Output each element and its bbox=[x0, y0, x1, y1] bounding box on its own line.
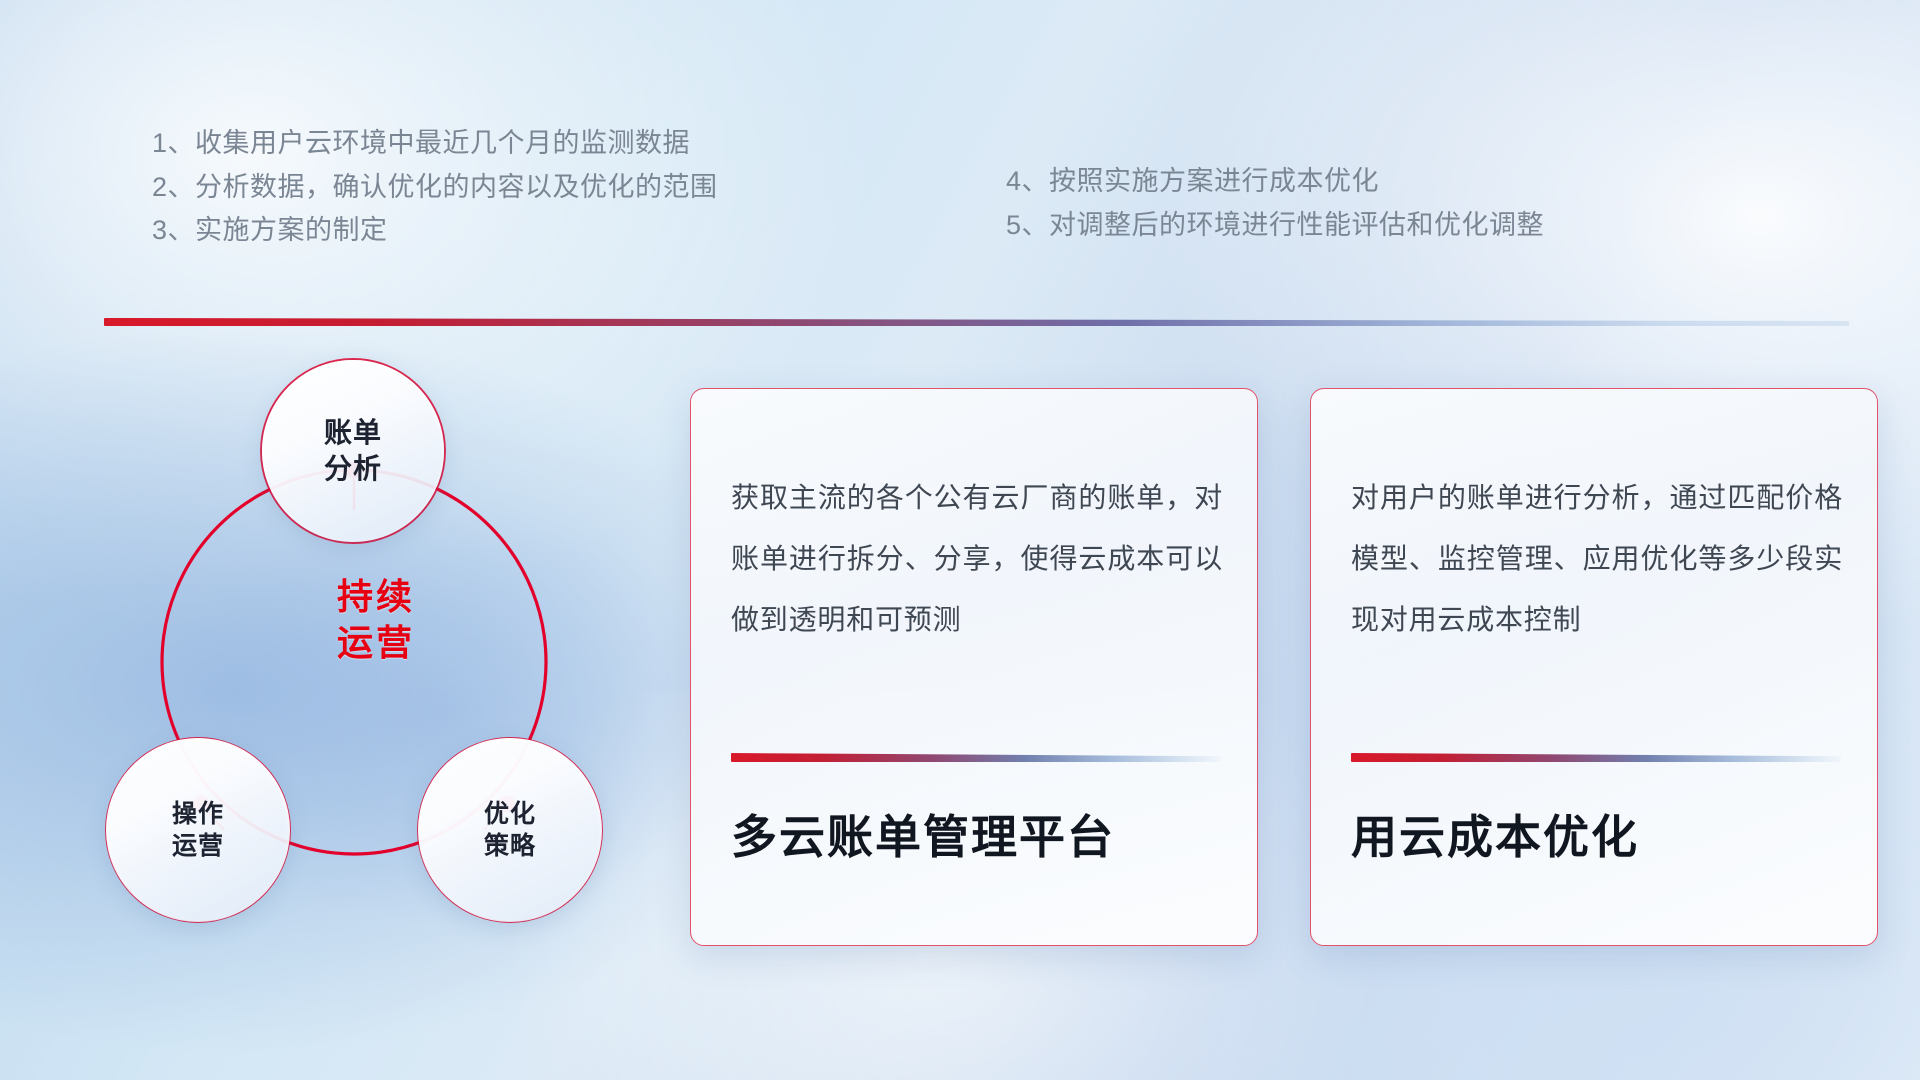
card-title: 多云账单管理平台 bbox=[731, 801, 1115, 867]
bubble-label-line2: 分析 bbox=[324, 451, 382, 487]
diagram-center-label: 持续 运营 bbox=[96, 574, 656, 666]
steps-list-left: 1、收集用户云环境中最近几个月的监测数据 2、分析数据，确认优化的内容以及优化的… bbox=[152, 122, 718, 253]
card-accent-rule bbox=[731, 753, 1221, 762]
card-body-text: 对用户的账单进行分析，通过匹配价格模型、监控管理、应用优化等多少段实现对用云成本… bbox=[1351, 467, 1843, 650]
step-item: 2、分析数据，确认优化的内容以及优化的范围 bbox=[152, 166, 718, 210]
card-accent-rule bbox=[1351, 753, 1841, 762]
bubble-label-line1: 操作 bbox=[172, 798, 224, 831]
bubble-label-line2: 策略 bbox=[484, 830, 536, 863]
step-item: 5、对调整后的环境进行性能评估和优化调整 bbox=[1006, 204, 1544, 248]
diagram-bubble-operations[interactable]: 操作 运营 bbox=[106, 738, 290, 922]
bubble-label-line1: 账单 bbox=[324, 415, 382, 451]
card-body-text: 获取主流的各个公有云厂商的账单，对账单进行拆分、分享，使得云成本可以做到透明和可… bbox=[731, 467, 1223, 650]
card-cloud-cost-optimization[interactable]: 对用户的账单进行分析，通过匹配价格模型、监控管理、应用优化等多少段实现对用云成本… bbox=[1310, 388, 1878, 946]
center-label-line1: 持续 bbox=[96, 574, 656, 620]
center-label-line2: 运营 bbox=[96, 620, 656, 666]
steps-list-right: 4、按照实施方案进行成本优化 5、对调整后的环境进行性能评估和优化调整 bbox=[1006, 160, 1544, 247]
step-item: 4、按照实施方案进行成本优化 bbox=[1006, 160, 1544, 204]
bubble-label-line2: 运营 bbox=[172, 830, 224, 863]
diagram-bubble-optimization-strategy[interactable]: 优化 策略 bbox=[418, 738, 602, 922]
step-item: 3、实施方案的制定 bbox=[152, 209, 718, 253]
diagram-bubble-billing-analysis[interactable]: 账单 分析 bbox=[262, 360, 444, 542]
card-title: 用云成本优化 bbox=[1351, 801, 1639, 867]
card-multicloud-billing[interactable]: 获取主流的各个公有云厂商的账单，对账单进行拆分、分享，使得云成本可以做到透明和可… bbox=[690, 388, 1258, 946]
bubble-label-line1: 优化 bbox=[484, 798, 536, 831]
continuous-operation-diagram: 账单 分析 操作 运营 优化 策略 持续 运营 bbox=[96, 352, 656, 952]
step-item: 1、收集用户云环境中最近几个月的监测数据 bbox=[152, 122, 718, 166]
